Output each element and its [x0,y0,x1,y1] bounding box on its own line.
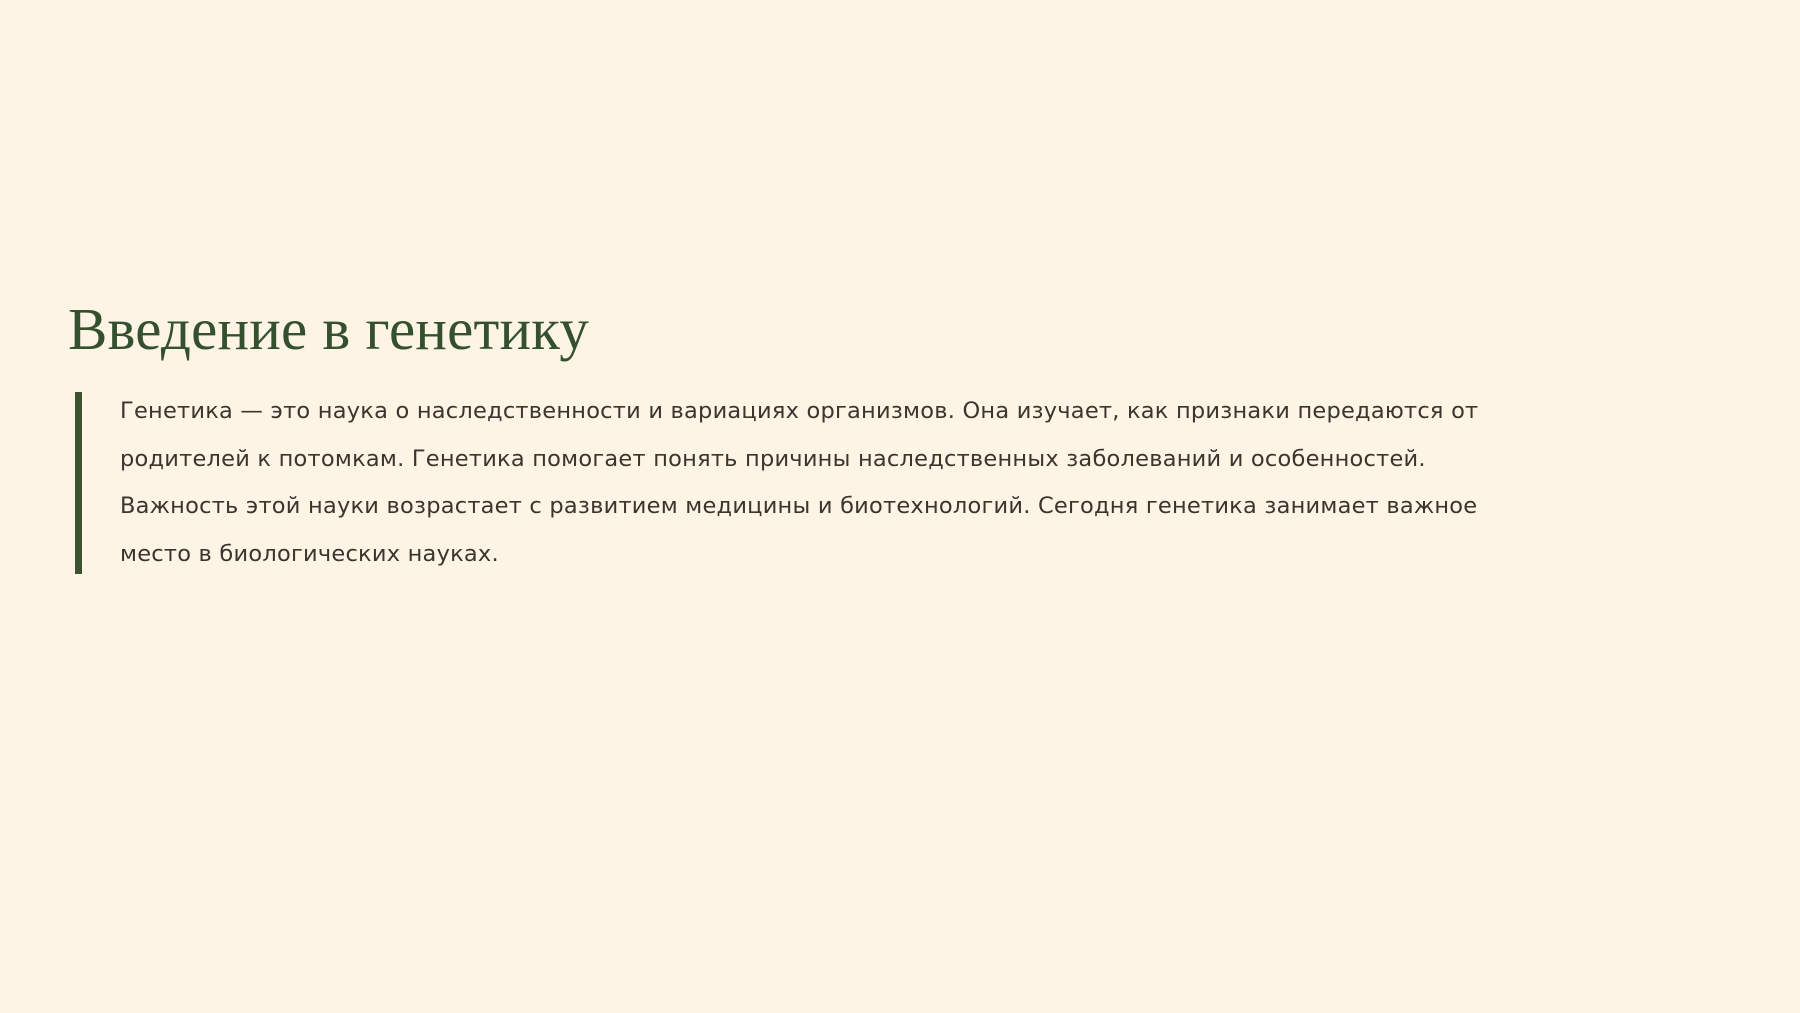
page-title: Введение в генетику [68,296,1728,362]
slide-canvas: Введение в генетику Генетика — это наука… [0,0,1800,1013]
quote-block: Генетика — это наука о наследственности … [75,388,1728,578]
body-paragraph: Генетика — это наука о наследственности … [120,388,1545,578]
slide-content: Введение в генетику Генетика — это наука… [68,296,1728,578]
accent-bar [75,392,82,574]
